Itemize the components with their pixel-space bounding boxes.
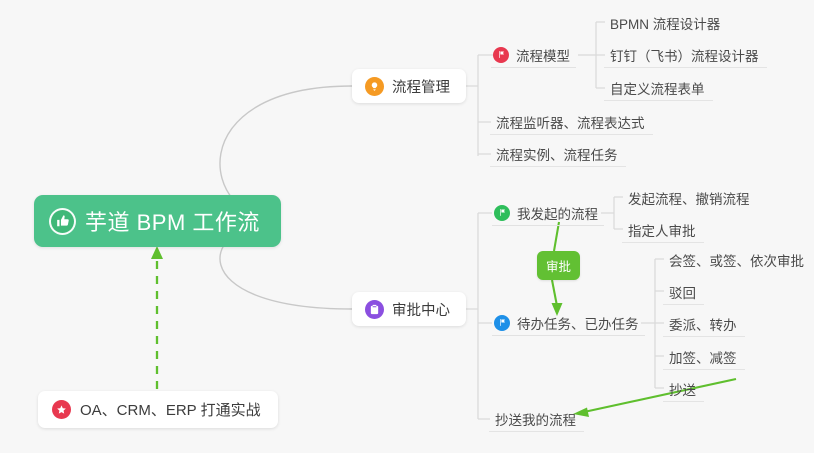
node-todo-done-tasks[interactable]: 待办任务、已办任务	[492, 310, 645, 336]
node-my-initiated[interactable]: 我发起的流程	[492, 200, 604, 226]
leaf-add-remove-sign[interactable]: 加签、减签	[663, 344, 745, 370]
branch-node-approval-center[interactable]: 审批中心	[352, 292, 466, 326]
branch-label-approval-center: 审批中心	[392, 299, 450, 320]
root-label: 芋道 BPM 工作流	[85, 205, 260, 237]
leaf-start-cancel-process[interactable]: 发起流程、撤销流程	[622, 185, 758, 211]
node-label-todo-done-tasks: 待办任务、已办任务	[517, 313, 639, 333]
thumbs-up-icon	[51, 210, 74, 233]
lightbulb-pin-icon	[365, 77, 384, 96]
leaf-process-instance[interactable]: 流程实例、流程任务	[490, 141, 626, 167]
note-arrow-head	[151, 246, 163, 259]
star-icon	[52, 400, 71, 419]
leaf-assignee-approval[interactable]: 指定人审批	[622, 217, 704, 243]
branch-node-process-management[interactable]: 流程管理	[352, 69, 466, 103]
note-label: OA、CRM、ERP 打通实战	[80, 399, 261, 420]
node-process-model[interactable]: 流程模型	[491, 42, 576, 68]
leaf-bpmn-designer[interactable]: BPMN 流程设计器	[604, 10, 728, 36]
leaf-carbon-copy[interactable]: 抄送	[663, 376, 704, 402]
mindmap-canvas: 芋道 BPM 工作流 流程管理 审批中心 流程模型 BPMN 流程设计器 钉钉（…	[0, 0, 814, 453]
node-label-my-initiated: 我发起的流程	[517, 203, 598, 223]
branch-label-process-management: 流程管理	[392, 76, 450, 97]
leaf-dingtalk-designer[interactable]: 钉钉（飞书）流程设计器	[604, 42, 767, 68]
flag-icon	[494, 205, 510, 221]
cc-flow-arrow	[584, 379, 736, 412]
leaf-custom-form[interactable]: 自定义流程表单	[604, 75, 713, 101]
approval-tag[interactable]: 审批	[537, 251, 580, 280]
flag-icon	[494, 315, 510, 331]
note-node-integration[interactable]: OA、CRM、ERP 打通实战	[38, 391, 278, 428]
clipboard-icon	[365, 300, 384, 319]
leaf-countersign[interactable]: 会签、或签、依次审批	[663, 247, 812, 273]
leaf-cc-to-me[interactable]: 抄送我的流程	[489, 406, 584, 432]
leaf-process-listener[interactable]: 流程监听器、流程表达式	[490, 109, 653, 135]
flag-icon	[493, 47, 509, 63]
leaf-delegate-transfer[interactable]: 委派、转办	[663, 311, 745, 337]
leaf-reject[interactable]: 驳回	[663, 279, 704, 305]
node-label-process-model: 流程模型	[516, 45, 570, 65]
root-node[interactable]: 芋道 BPM 工作流	[34, 195, 281, 247]
